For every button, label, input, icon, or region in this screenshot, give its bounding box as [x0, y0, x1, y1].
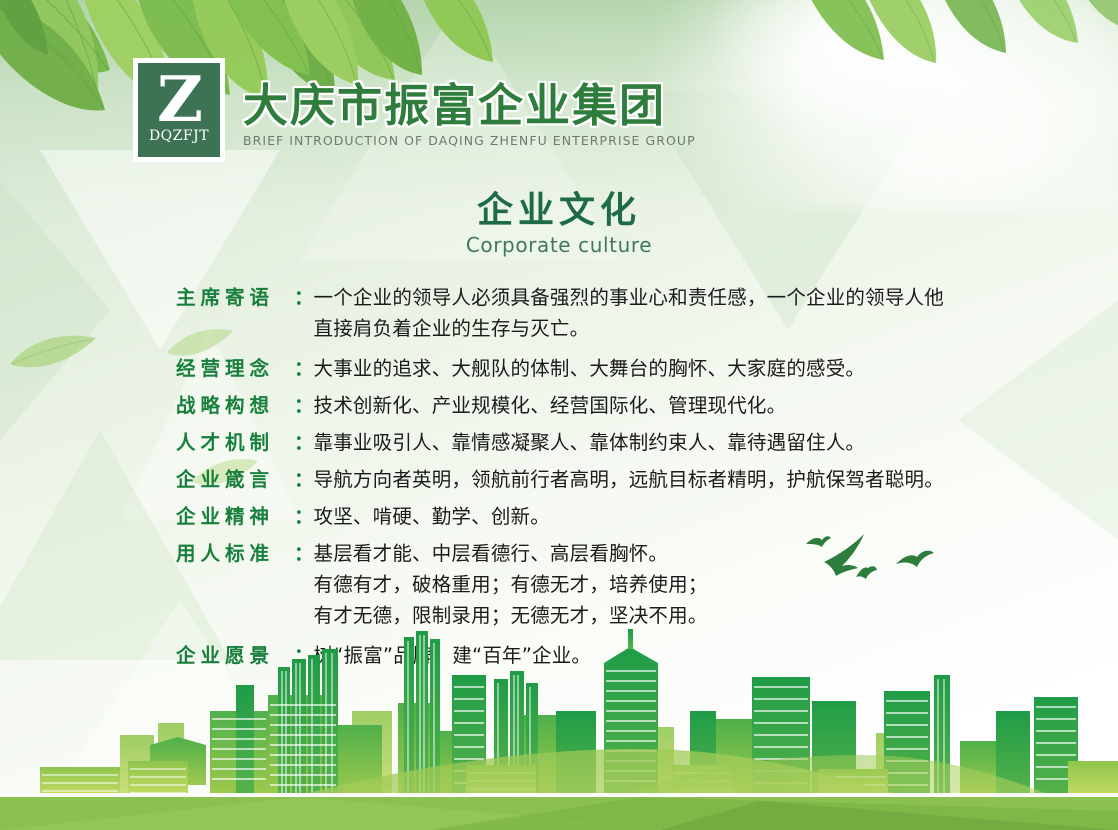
- culture-row: 经营理念 ： 大事业的追求、大舰队的体制、大舞台的胸怀、大家庭的感受。: [176, 353, 1006, 384]
- culture-row-body: 大事业的追求、大舰队的体制、大舞台的胸怀、大家庭的感受。: [314, 353, 1006, 384]
- culture-row: 企业箴言 ： 导航方向者英明，领航前行者高明，远航目标者精明，护航保驾者聪明。: [176, 464, 1006, 495]
- culture-row-colon: ：: [294, 282, 314, 313]
- culture-row-line: 一个企业的领导人必须具备强烈的事业心和责任感，一个企业的领导人他: [314, 282, 1006, 313]
- culture-row-line: 直接肩负着企业的生存与灭亡。: [314, 313, 1006, 344]
- culture-row: 人才机制 ： 靠事业吸引人、靠情感凝聚人、靠体制约束人、靠待遇留住人。: [176, 427, 1006, 458]
- culture-row-line: 靠事业吸引人、靠情感凝聚人、靠体制约束人、靠待遇留住人。: [314, 427, 1006, 458]
- culture-row-label: 主席寄语: [176, 282, 294, 313]
- culture-row-label: 企业箴言: [176, 464, 294, 495]
- culture-row-colon: ：: [294, 538, 314, 569]
- culture-row-colon: ：: [294, 501, 314, 532]
- section-title-cn: 企业文化: [0, 190, 1118, 231]
- logo-mark: Z DQZFJT: [138, 63, 220, 157]
- poster-canvas: Z DQZFJT 大庆市振富企业集团 BRIEF INTRODUCTION OF…: [0, 0, 1118, 830]
- culture-row-line: 导航方向者英明，领航前行者高明，远航目标者精明，护航保驾者聪明。: [314, 464, 1006, 495]
- logo-letter: Z: [157, 69, 201, 131]
- brand-text-block: 大庆市振富企业集团 BRIEF INTRODUCTION OF DAQING Z…: [243, 58, 696, 148]
- company-name-en: BRIEF INTRODUCTION OF DAQING ZHENFU ENTE…: [243, 133, 696, 148]
- logo-abbreviation: DQZFJT: [149, 128, 209, 144]
- culture-row-colon: ：: [294, 464, 314, 495]
- culture-row: 主席寄语 ： 一个企业的领导人必须具备强烈的事业心和责任感，一个企业的领导人他 …: [176, 282, 1006, 344]
- culture-row-label: 用人标准: [176, 538, 294, 569]
- section-title-en: Corporate culture: [0, 233, 1118, 257]
- culture-row-colon: ：: [294, 427, 314, 458]
- culture-row-label: 战略构想: [176, 390, 294, 421]
- bird-icon: [800, 522, 980, 592]
- culture-row-body: 技术创新化、产业规模化、经营国际化、管理现代化。: [314, 390, 1006, 421]
- company-logo: Z DQZFJT: [133, 58, 225, 162]
- culture-row-colon: ：: [294, 390, 314, 421]
- culture-row-label: 企业精神: [176, 501, 294, 532]
- brand-header: Z DQZFJT 大庆市振富企业集团 BRIEF INTRODUCTION OF…: [133, 58, 696, 162]
- city-skyline-icon: [0, 615, 1118, 830]
- culture-row-body: 一个企业的领导人必须具备强烈的事业心和责任感，一个企业的领导人他 直接肩负着企业…: [314, 282, 1006, 344]
- culture-row-label: 人才机制: [176, 427, 294, 458]
- culture-row-line: 大事业的追求、大舰队的体制、大舞台的胸怀、大家庭的感受。: [314, 353, 1006, 384]
- culture-row-label: 经营理念: [176, 353, 294, 384]
- section-title: 企业文化 Corporate culture: [0, 190, 1118, 257]
- company-name-cn: 大庆市振富企业集团: [243, 82, 696, 129]
- culture-row-body: 导航方向者英明，领航前行者高明，远航目标者精明，护航保驾者聪明。: [314, 464, 1006, 495]
- culture-row-line: 技术创新化、产业规模化、经营国际化、管理现代化。: [314, 390, 1006, 421]
- culture-row: 战略构想 ： 技术创新化、产业规模化、经营国际化、管理现代化。: [176, 390, 1006, 421]
- leaf-icon: [8, 330, 98, 376]
- leaf-icon: [760, 0, 1118, 115]
- culture-row-body: 靠事业吸引人、靠情感凝聚人、靠体制约束人、靠待遇留住人。: [314, 427, 1006, 458]
- culture-row-colon: ：: [294, 353, 314, 384]
